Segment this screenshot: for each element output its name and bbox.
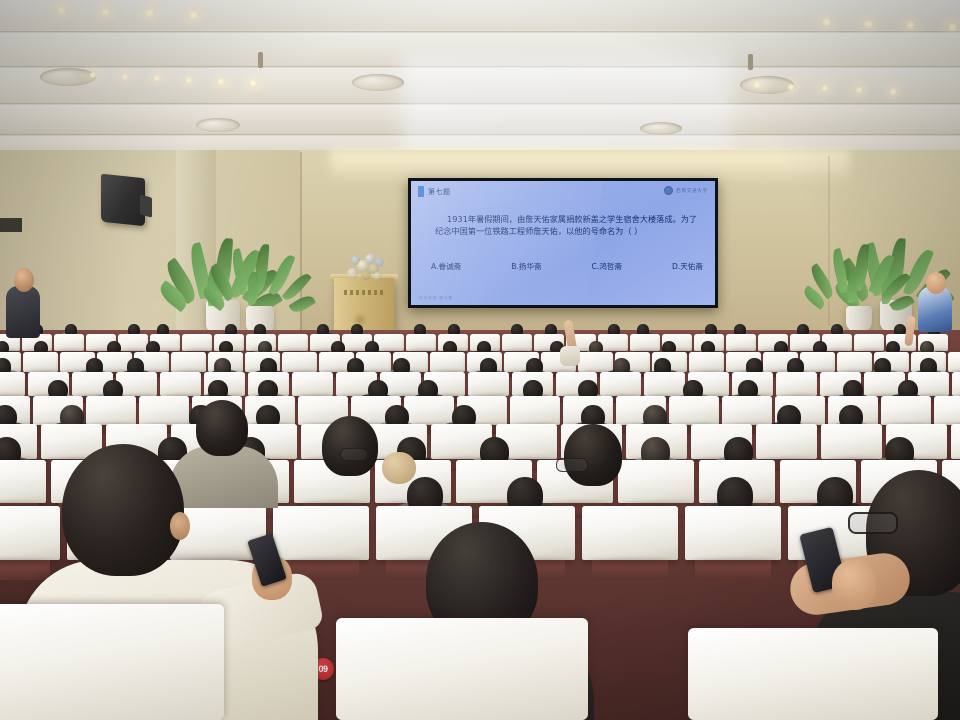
- seat-chair[interactable]: [951, 424, 960, 459]
- flower-blossom: [347, 268, 358, 279]
- audience-head: [564, 424, 622, 486]
- seat-chair[interactable]: [669, 396, 719, 425]
- seat-chair[interactable]: [934, 396, 960, 425]
- ceiling-vent: [40, 68, 96, 86]
- seat-chair[interactable]: [630, 334, 660, 351]
- seat-chair[interactable]: [854, 334, 884, 351]
- plush-toy: [382, 452, 416, 484]
- glasses-icon: [848, 512, 898, 534]
- seat-chair[interactable]: [86, 396, 136, 425]
- slide-header-label: 第七题: [428, 187, 451, 197]
- quiz-option-a: A.眷诚斋: [431, 261, 461, 272]
- ceiling-downlight: [786, 84, 796, 90]
- seat-chair[interactable]: [292, 372, 333, 396]
- seat-chair[interactable]: [171, 352, 206, 372]
- flower-blossom: [365, 254, 375, 264]
- ceiling-downlight: [216, 78, 226, 84]
- quiz-options-row: A.眷诚斋B.扬华斋C.鸿哲斋D.天佑斋: [431, 261, 703, 272]
- quiz-option-b: B.扬华斋: [511, 261, 541, 272]
- ceiling-downlight: [888, 88, 898, 94]
- ceiling-vent: [352, 74, 404, 91]
- ceiling-downlight: [820, 18, 833, 26]
- quiz-question-text: 1931年暑假期间，由詹天佑家属捐款新盖之学生宿舍大楼落成。为了纪念中国第一位铁…: [435, 213, 699, 238]
- seat-chair[interactable]: [430, 352, 465, 372]
- audience-head: [196, 400, 248, 456]
- logo-emblem-icon: [664, 186, 673, 195]
- seat-chair[interactable]: [502, 334, 532, 351]
- glasses-icon: [340, 448, 368, 461]
- flower-blossom: [351, 256, 360, 265]
- seat-chair[interactable]: [406, 334, 436, 351]
- speaker-mount: [140, 194, 152, 217]
- foreground-person-head: [62, 444, 184, 576]
- glasses-icon: [556, 458, 588, 472]
- seat-chair[interactable]: [118, 334, 148, 351]
- seat-chair[interactable]: [273, 506, 369, 560]
- seat-chair[interactable]: [881, 396, 931, 425]
- seat-chair[interactable]: [160, 372, 201, 396]
- ceiling-downlight: [946, 23, 959, 31]
- flower-arrangement: [345, 252, 387, 280]
- quiz-option-c: C.鸿哲斋: [592, 261, 623, 272]
- seat-chair[interactable]: [722, 396, 772, 425]
- seat-chair[interactable]: [688, 628, 938, 720]
- presenter-person: [6, 286, 40, 338]
- projection-screen[interactable]: 第七题 西南交通大学 1931年暑假期间，由詹天佑家属捐款新盖之学生宿舍大楼落成…: [411, 181, 715, 305]
- seat-chair[interactable]: [0, 604, 224, 720]
- seat-chair[interactable]: [182, 334, 212, 351]
- flower-blossom: [375, 258, 384, 267]
- lectern-nameplate: [344, 290, 386, 295]
- foreground-person-ear: [170, 512, 190, 540]
- seat-chair[interactable]: [510, 396, 560, 425]
- seat-chair[interactable]: [23, 352, 58, 372]
- ceiling-downlight: [55, 6, 68, 14]
- seat-chair[interactable]: [582, 506, 678, 560]
- speaker-icon: [101, 174, 145, 227]
- seat-chair[interactable]: [578, 352, 613, 372]
- seat-chair[interactable]: [952, 372, 960, 396]
- plant-pot: [846, 306, 872, 332]
- slide-header-marker: [418, 186, 424, 197]
- seat-chair[interactable]: [282, 352, 317, 372]
- audience-head: [322, 416, 378, 476]
- staff-head: [926, 272, 946, 294]
- screen-glare: [411, 181, 607, 305]
- seat-chair[interactable]: [689, 352, 724, 372]
- wall-fixture: [0, 218, 22, 232]
- ceiling-downlight: [862, 20, 875, 28]
- ceiling: [0, 0, 960, 172]
- ceiling-sensor: [748, 54, 753, 70]
- foreground-person-hand: [832, 560, 876, 610]
- seat-chair[interactable]: [374, 334, 404, 351]
- ceiling-downlight: [854, 87, 864, 93]
- seat-chair[interactable]: [776, 372, 817, 396]
- seat-chair[interactable]: [800, 352, 835, 372]
- seat-chair[interactable]: [837, 352, 872, 372]
- university-logo: 西南交通大学: [664, 186, 708, 195]
- seat-chair[interactable]: [278, 334, 308, 351]
- slide-footer: 知识竞赛 第七题: [419, 296, 453, 301]
- seat-chair[interactable]: [336, 618, 588, 720]
- presenter-head: [14, 268, 34, 292]
- seat-chair[interactable]: [139, 396, 189, 425]
- wall-corner: [828, 156, 830, 326]
- seat-chair[interactable]: [726, 334, 756, 351]
- logo-label: 西南交通大学: [676, 188, 708, 194]
- ceiling-downlight: [184, 77, 194, 83]
- seat-chair[interactable]: [0, 460, 46, 503]
- seat-chair[interactable]: [598, 334, 628, 351]
- lecture-hall-screenshot: 第七题 西南交通大学 1931年暑假期间，由詹天佑家属捐款新盖之学生宿舍大楼落成…: [0, 0, 960, 720]
- seat-chair[interactable]: [685, 506, 781, 560]
- ceiling-downlight: [120, 74, 130, 80]
- ceiling-vent: [196, 118, 240, 132]
- raised-hand-sleeve: [560, 346, 580, 366]
- flower-blossom: [373, 272, 382, 281]
- projection-screen-frame: 第七题 西南交通大学 1931年暑假期间，由詹天佑家属捐款新盖之学生宿舍大楼落成…: [408, 178, 718, 308]
- seat-chair[interactable]: [600, 372, 641, 396]
- seat-chair[interactable]: [404, 396, 454, 425]
- ceiling-sensor: [258, 52, 263, 68]
- seat-chair[interactable]: [54, 334, 84, 351]
- slide-header: 第七题: [418, 186, 451, 197]
- seat-chair[interactable]: [468, 372, 509, 396]
- seat-chair[interactable]: [756, 424, 817, 459]
- seat-chair[interactable]: [948, 352, 960, 372]
- quiz-option-d: D.天佑斋: [672, 261, 703, 272]
- ceiling-downlight: [187, 11, 200, 19]
- seat-chair[interactable]: [0, 372, 25, 396]
- seat-chair[interactable]: [0, 506, 60, 560]
- ceiling-vent: [640, 122, 682, 135]
- seat-chair[interactable]: [644, 372, 685, 396]
- seat-chair[interactable]: [822, 334, 852, 351]
- seat-chair[interactable]: [618, 460, 694, 503]
- seat-chair[interactable]: [821, 424, 882, 459]
- ceiling-downlight: [99, 8, 112, 16]
- flower-blossom: [361, 270, 371, 280]
